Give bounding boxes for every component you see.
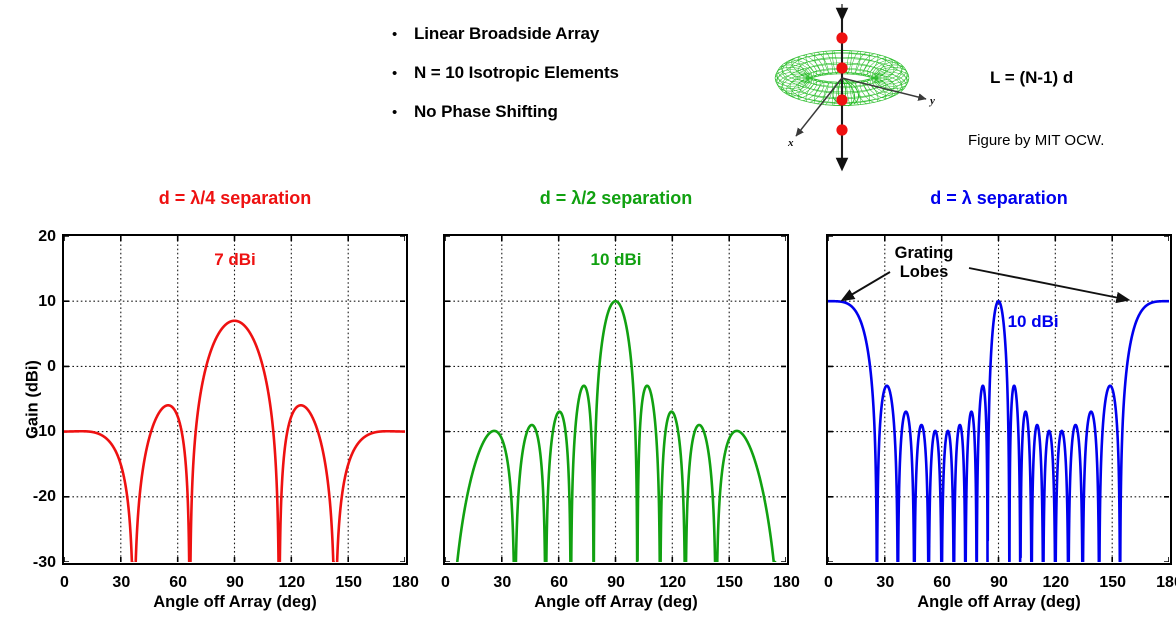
y-tick-label: -30 bbox=[33, 554, 56, 572]
y-axis-label: y bbox=[928, 95, 935, 107]
grating-lobes-label: GratingLobes bbox=[878, 244, 970, 282]
x-tick-label: 30 bbox=[112, 574, 130, 592]
pattern-curve bbox=[445, 236, 786, 562]
x-tick-label: 120 bbox=[1042, 574, 1069, 592]
bullet-marker-icon: • bbox=[392, 64, 414, 84]
x-tick-label: 150 bbox=[1099, 574, 1126, 592]
bullet-marker-icon: • bbox=[392, 103, 414, 123]
x-tick-label: 90 bbox=[226, 574, 244, 592]
x-tick-label: 60 bbox=[933, 574, 951, 592]
x-axis-title: Angle off Array (deg) bbox=[62, 593, 408, 612]
x-tick-label: 90 bbox=[607, 574, 625, 592]
chart-title: d = λ/4 separation bbox=[62, 188, 408, 209]
x-tick-label: 90 bbox=[990, 574, 1008, 592]
x-axis-label: x bbox=[787, 137, 794, 149]
x-axis-title: Angle off Array (deg) bbox=[443, 593, 789, 612]
array-pattern-3d-illustration: y x bbox=[768, 0, 988, 180]
chart-title: d = λ separation bbox=[826, 188, 1172, 209]
x-tick-label: 180 bbox=[773, 574, 800, 592]
chart-title: d = λ/2 separation bbox=[443, 188, 789, 209]
list-item: • N = 10 Isotropic Elements bbox=[392, 63, 732, 85]
plot-area bbox=[443, 234, 789, 565]
gain-annotation: 10 dBi bbox=[1008, 312, 1059, 332]
array-geometry-figure: y x bbox=[768, 0, 988, 180]
tick-marks bbox=[828, 236, 1169, 562]
tick-marks bbox=[64, 236, 405, 562]
length-equation: L = (N-1) d bbox=[990, 68, 1073, 88]
grating-lobe-arrow-right bbox=[969, 268, 1124, 299]
x-tick-label: 30 bbox=[493, 574, 511, 592]
plot-area bbox=[826, 234, 1172, 565]
x-tick-label: 0 bbox=[824, 574, 833, 592]
bullet-text: Linear Broadside Array bbox=[414, 24, 599, 44]
x-tick-label: 180 bbox=[392, 574, 419, 592]
y-tick-label: 10 bbox=[38, 293, 56, 311]
y-tick-label: -20 bbox=[33, 488, 56, 506]
bullet-text: N = 10 Isotropic Elements bbox=[414, 63, 619, 83]
x-tick-label: 120 bbox=[278, 574, 305, 592]
grating-lobes-label-line2: Lobes bbox=[878, 263, 970, 282]
grid-lines bbox=[64, 236, 405, 562]
y-axis-title: Gain (dBi) bbox=[24, 339, 43, 459]
x-tick-label: 150 bbox=[716, 574, 743, 592]
tick-marks bbox=[445, 236, 786, 562]
bullet-list: • Linear Broadside Array • N = 10 Isotro… bbox=[392, 24, 732, 141]
gain-annotation: 7 dBi bbox=[214, 250, 256, 270]
list-item: • Linear Broadside Array bbox=[392, 24, 732, 46]
plot-area bbox=[62, 234, 408, 565]
pattern-curve bbox=[64, 236, 405, 562]
gain-annotation: 10 dBi bbox=[590, 250, 641, 270]
x-tick-label: 60 bbox=[169, 574, 187, 592]
y-tick-label: 0 bbox=[47, 358, 56, 376]
x-tick-label: 60 bbox=[550, 574, 568, 592]
x-tick-label: 0 bbox=[60, 574, 69, 592]
figure-credit: Figure by MIT OCW. bbox=[968, 132, 1104, 149]
x-tick-label: 120 bbox=[659, 574, 686, 592]
pattern-curve bbox=[828, 236, 1169, 562]
grid-lines bbox=[828, 236, 1169, 562]
array-element-dot bbox=[836, 124, 847, 135]
x-tick-label: 150 bbox=[335, 574, 362, 592]
x-axis-title: Angle off Array (deg) bbox=[826, 593, 1172, 612]
grating-lobes-label-line1: Grating bbox=[878, 244, 970, 263]
x-tick-label: 30 bbox=[876, 574, 894, 592]
array-element-dot bbox=[836, 32, 847, 43]
x-tick-label: 0 bbox=[441, 574, 450, 592]
bullet-marker-icon: • bbox=[392, 25, 414, 45]
grid-lines bbox=[445, 236, 786, 562]
list-item: • No Phase Shifting bbox=[392, 102, 732, 124]
bullet-text: No Phase Shifting bbox=[414, 102, 558, 122]
array-element-dot bbox=[836, 94, 847, 105]
y-tick-label: 20 bbox=[38, 228, 56, 246]
x-tick-label: 180 bbox=[1156, 574, 1176, 592]
array-element-dot bbox=[836, 62, 847, 73]
